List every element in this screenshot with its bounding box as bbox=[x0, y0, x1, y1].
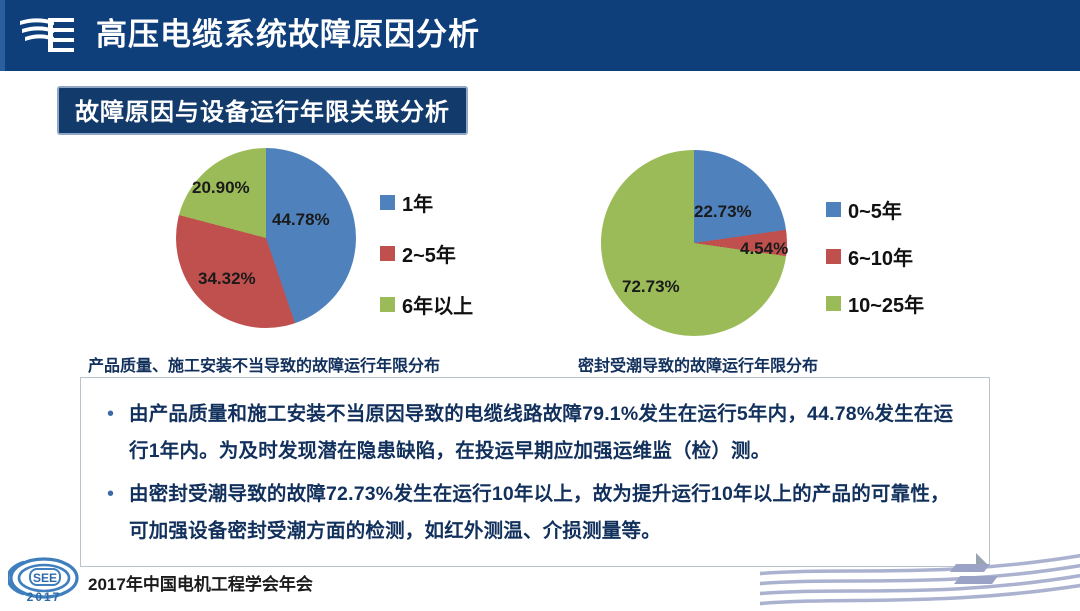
pie-chart-left bbox=[176, 148, 356, 328]
section-title-box: 故障原因与设备运行年限关联分析 bbox=[57, 86, 468, 135]
legend-item: 1年 bbox=[380, 188, 473, 217]
bullet-text: 由密封受潮导致的故障72.73%发生在运行10年以上，故为提升运行10年以上的产… bbox=[129, 476, 965, 550]
legend-swatch-green-icon bbox=[826, 296, 841, 311]
bullet-marker-icon: • bbox=[107, 396, 129, 470]
legend-label: 0~5年 bbox=[848, 195, 902, 224]
svg-text:SEE: SEE bbox=[33, 571, 57, 585]
legend-label: 1年 bbox=[402, 188, 433, 217]
section-title-text: 故障原因与设备运行年限关联分析 bbox=[75, 92, 450, 127]
bullet-item: • 由产品质量和施工安装不当原因导致的电缆线路故障79.1%发生在运行5年内，4… bbox=[107, 396, 965, 470]
pie-left-label-blue: 44.78% bbox=[272, 210, 330, 230]
legend-swatch-blue-icon bbox=[826, 202, 841, 217]
page-title: 高压电缆系统故障原因分析 bbox=[96, 8, 480, 62]
legend-label: 2~5年 bbox=[402, 239, 456, 268]
legend-item: 6年以上 bbox=[380, 290, 473, 319]
legend-right: 0~5年 6~10年 10~25年 bbox=[826, 195, 924, 336]
pie-right-label-green: 72.73% bbox=[622, 277, 680, 297]
legend-left: 1年 2~5年 6年以上 bbox=[380, 188, 473, 341]
legend-swatch-green-icon bbox=[380, 297, 395, 312]
box-corner-fold bbox=[976, 553, 990, 567]
svg-text:2017: 2017 bbox=[27, 590, 62, 604]
chart-caption-right: 密封受潮导致的故障运行年限分布 bbox=[578, 352, 818, 376]
legend-label: 6年以上 bbox=[402, 290, 473, 319]
bullet-text: 由产品质量和施工安装不当原因导致的电缆线路故障79.1%发生在运行5年内，44.… bbox=[129, 396, 965, 470]
bullet-item: • 由密封受潮导致的故障72.73%发生在运行10年以上，故为提升运行10年以上… bbox=[107, 476, 965, 550]
legend-swatch-red-icon bbox=[826, 249, 841, 264]
legend-item: 6~10年 bbox=[826, 242, 924, 271]
header-left-accent bbox=[0, 0, 5, 71]
footer-conference-label: 2017年中国电机工程学会年会 bbox=[88, 570, 313, 595]
pie-right-label-blue: 22.73% bbox=[694, 202, 752, 222]
pie-left-label-red: 34.32% bbox=[198, 269, 256, 289]
legend-swatch-red-icon bbox=[380, 246, 395, 261]
legend-item: 0~5年 bbox=[826, 195, 924, 224]
conclusion-box: • 由产品质量和施工安装不当原因导致的电缆线路故障79.1%发生在运行5年内，4… bbox=[80, 377, 990, 567]
legend-item: 2~5年 bbox=[380, 239, 473, 268]
pie-left-label-green: 20.90% bbox=[192, 178, 250, 198]
pie-right-label-red: 4.54% bbox=[740, 239, 788, 259]
legend-swatch-blue-icon bbox=[380, 195, 395, 210]
see-2017-logo-icon: SEE 2017 bbox=[8, 556, 80, 606]
bullet-marker-icon: • bbox=[107, 476, 129, 550]
legend-label: 10~25年 bbox=[848, 289, 924, 318]
legend-label: 6~10年 bbox=[848, 242, 913, 271]
see-lines-logo-icon bbox=[18, 12, 80, 58]
legend-item: 10~25年 bbox=[826, 289, 924, 318]
chart-caption-left: 产品质量、施工安装不当导致的故障运行年限分布 bbox=[88, 352, 440, 376]
header-bar: 高压电缆系统故障原因分析 bbox=[0, 0, 1080, 71]
